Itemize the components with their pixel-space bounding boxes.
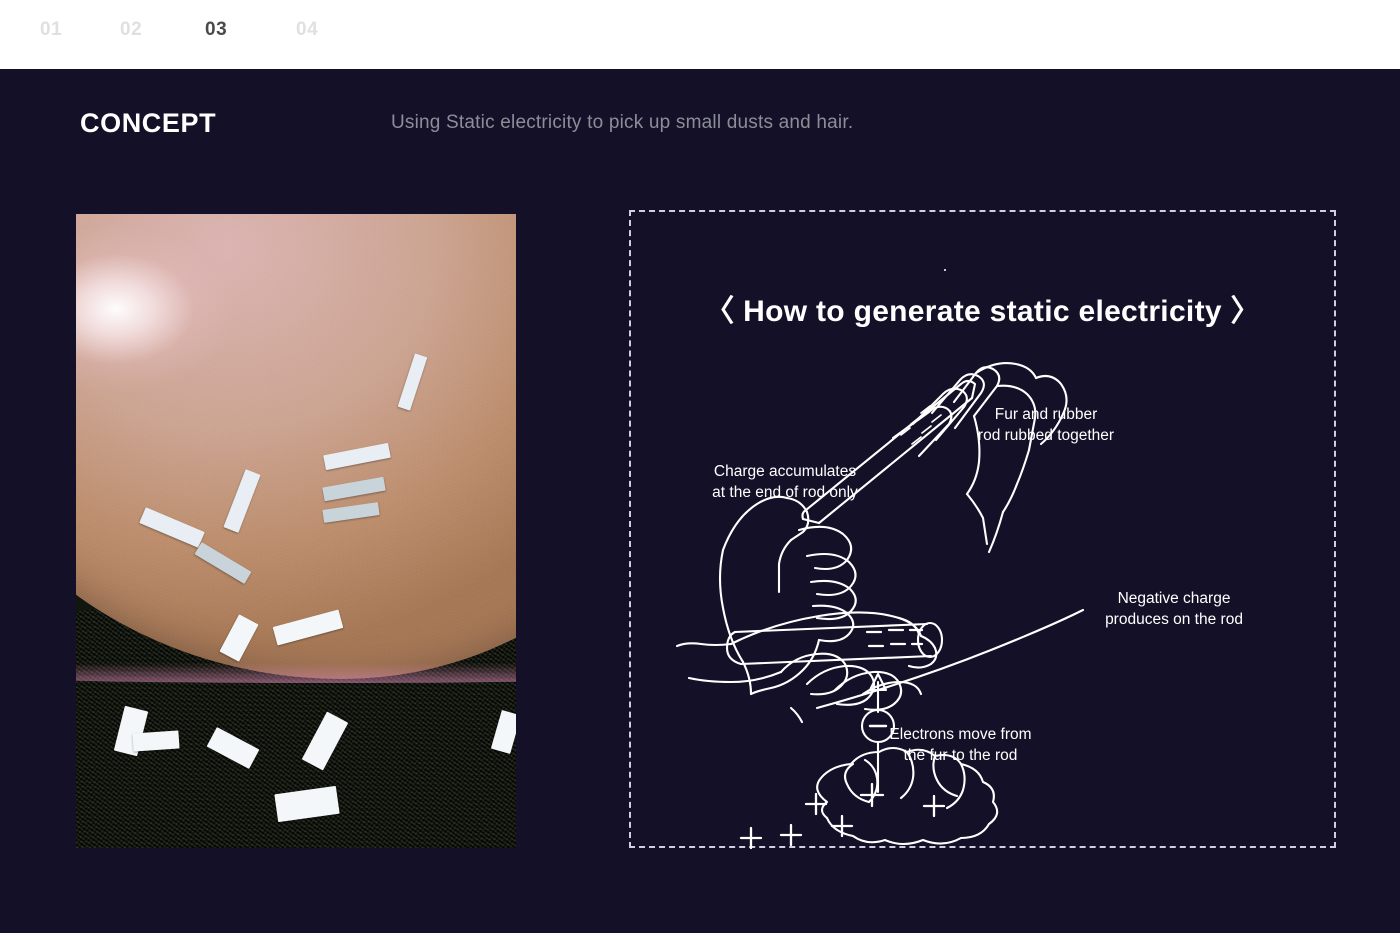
label-electrons-move-line1: Electrons move from [853, 725, 1068, 746]
nav-item-02[interactable]: 02 [120, 19, 142, 41]
diagram-panel: 〈 How to generate static electricity 〉 F… [629, 210, 1336, 848]
nav-item-03[interactable]: 03 [205, 19, 227, 41]
nav-item-04[interactable]: 04 [296, 19, 318, 41]
label-electrons-move: Electrons move from the fur to the rod [853, 725, 1068, 767]
label-fur-and-rod-line1: Fur and rubber [931, 405, 1161, 426]
page-subtitle: Using Static electricity to pick up smal… [391, 112, 853, 134]
label-charge-accumulates-line2: at the end of rod only [675, 483, 895, 504]
nav-item-01[interactable]: 01 [40, 19, 62, 41]
positive-charges [741, 784, 944, 848]
page-title: CONCEPT [80, 108, 216, 139]
label-electrons-move-line2: the fur to the rod [853, 746, 1068, 767]
label-fur-and-rod: Fur and rubber rod rubbed together [931, 405, 1161, 447]
label-negative-charge-line1: Negative charge [1059, 589, 1289, 610]
label-charge-accumulates: Charge accumulates at the end of rod onl… [675, 462, 895, 504]
label-negative-charge-line2: produces on the rod [1059, 610, 1289, 631]
paper-strip [132, 730, 179, 751]
concept-photo [76, 214, 516, 848]
top-nav: 01 02 03 04 [0, 0, 1400, 69]
label-charge-accumulates-line1: Charge accumulates [675, 462, 895, 483]
label-negative-charge: Negative charge produces on the rod [1059, 589, 1289, 631]
label-fur-and-rod-line2: rod rubbed together [931, 426, 1161, 447]
diagram-title: 〈 How to generate static electricity 〉 [631, 286, 1334, 330]
balloon [76, 214, 516, 679]
balloon-grain [76, 214, 516, 679]
